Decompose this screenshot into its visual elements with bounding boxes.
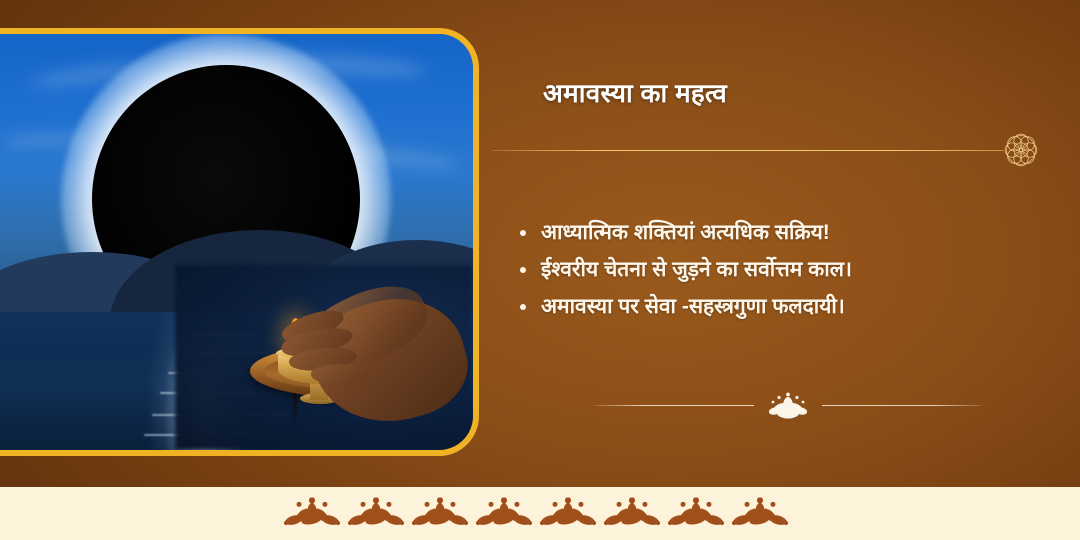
slide-canvas: अमावस्या का महत्व आध्यात्मिक शक्तियां अत… (0, 0, 1080, 540)
motif-row (280, 497, 800, 531)
list-item: अमावस्या पर सेवा -सहस्त्रगुणा फलदायी। (520, 292, 1060, 322)
mandala-rosette-icon (997, 126, 1045, 174)
bullet-dot-icon (520, 267, 526, 273)
floral-motif-icon (280, 497, 800, 531)
page-title: अमावस्या का महत्व (543, 74, 727, 110)
photo-panel (0, 28, 479, 456)
photo-image (0, 34, 473, 450)
bullet-text: ईश्वरीय चेतना से जुड़ने का सर्वोत्तम काल… (541, 255, 852, 285)
divider-line-left (594, 405, 754, 406)
bullet-text: आध्यात्मिक शक्तियां अत्यधिक सक्रिय! (541, 218, 830, 248)
bullet-dot-icon (520, 230, 526, 236)
content-panel: अमावस्या का महत्व आध्यात्मिक शक्तियां अत… (500, 0, 1080, 487)
bottom-decorative-strip (0, 487, 1080, 540)
lotus-divider (578, 388, 998, 422)
bullet-text: अमावस्या पर सेवा -सहस्त्रगुणा फलदायी। (541, 292, 845, 322)
puja-scene (0, 265, 473, 450)
list-item: आध्यात्मिक शक्तियां अत्यधिक सक्रिय! (520, 218, 1060, 248)
bullet-dot-icon (520, 304, 526, 310)
divider-line-right (822, 405, 982, 406)
bullet-list: आध्यात्मिक शक्तियां अत्यधिक सक्रिय! ईश्व… (520, 218, 1060, 328)
title-divider-rule (492, 150, 1004, 151)
lotus-flower-icon (768, 390, 808, 420)
list-item: ईश्वरीय चेतना से जुड़ने का सर्वोत्तम काल… (520, 255, 1060, 285)
